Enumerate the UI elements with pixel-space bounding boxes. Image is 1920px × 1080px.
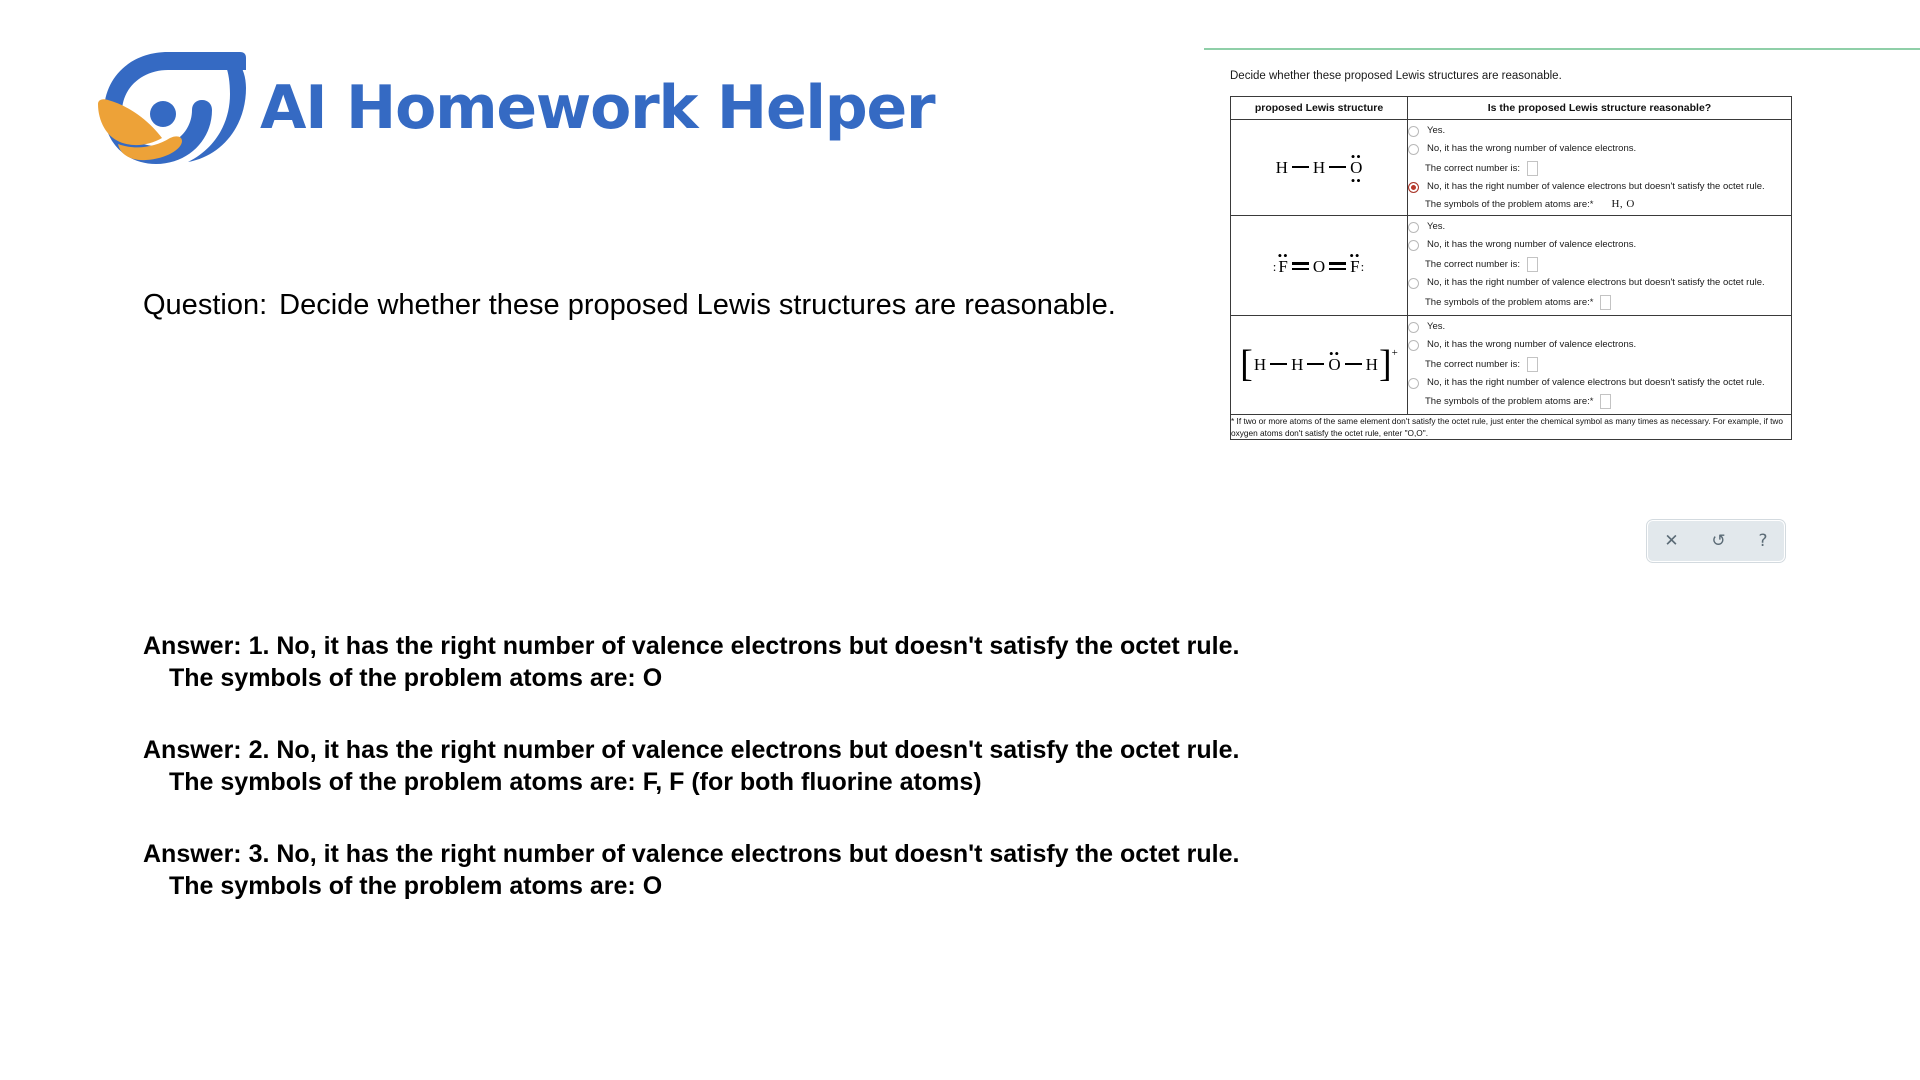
bond-double-icon [1292,262,1309,269]
bond-single-icon [1307,363,1324,365]
table-row: H H O•••• Yes. No, it has the wrong nu [1231,120,1792,216]
symbols-input-value[interactable]: H, O [1611,198,1634,210]
radio-unselected-icon[interactable] [1408,378,1419,389]
answer-2-line-2: The symbols of the problem atoms are: F,… [143,766,1543,798]
option-octet-rule[interactable]: No, it has the right number of valence e… [1408,277,1791,290]
option-yes[interactable]: Yes. [1408,221,1791,234]
radio-unselected-icon[interactable] [1408,126,1419,137]
answer-2-line-1: Answer: 2. No, it has the right number o… [143,734,1543,766]
symbols-field-row: The symbols of the problem atoms are:* H… [1425,198,1791,210]
answer-3-line-2: The symbols of the problem atoms are: O [143,870,1543,902]
answer-1-line-2: The symbols of the problem atoms are: O [143,662,1543,694]
radio-unselected-icon[interactable] [1408,222,1419,233]
question-line: Question:Decide whether these proposed L… [143,289,1116,322]
correct-number-input[interactable] [1527,357,1538,372]
bracket-right-icon: ] [1379,349,1392,379]
table-footnote-row: * If two or more atoms of the same eleme… [1231,415,1792,440]
option-wrong-valence-count[interactable]: No, it has the wrong number of valence e… [1408,339,1791,352]
lewis-structure-h-h-o: H H O•••• [1231,120,1408,216]
close-icon[interactable]: ✕ [1664,533,1678,550]
table-header-row: proposed Lewis structure Is the proposed… [1231,97,1792,120]
option-yes[interactable]: Yes. [1408,321,1791,334]
table-row: [ H H O•• H ] + [1231,315,1792,414]
radio-unselected-icon[interactable] [1408,278,1419,289]
answer-3-line-1: Answer: 3. No, it has the right number o… [143,838,1543,870]
symbols-field-row: The symbols of the problem atoms are:* [1425,394,1791,409]
radio-unselected-icon[interactable] [1408,144,1419,155]
answer-block-1: Answer: 1. No, it has the right number o… [143,630,1543,694]
correct-number-field-row: The correct number is: [1425,357,1791,372]
embedded-screenshot-panel: Decide whether these proposed Lewis stru… [1204,48,1920,568]
bracket-left-icon: [ [1240,349,1253,379]
table-row: : F•• O F•• : Yes. [1231,216,1792,315]
correct-number-field-row: The correct number is: [1425,161,1791,176]
answer-1-line-1: Answer: 1. No, it has the right number o… [143,630,1543,662]
options-cell: Yes. No, it has the wrong number of vale… [1408,216,1792,315]
options-cell: Yes. No, it has the wrong number of vale… [1408,315,1792,414]
radio-selected-icon[interactable] [1408,182,1419,193]
radio-unselected-icon[interactable] [1408,322,1419,333]
option-yes[interactable]: Yes. [1408,125,1791,138]
help-icon[interactable]: ? [1759,533,1768,550]
symbols-input[interactable] [1600,295,1611,310]
option-octet-rule[interactable]: No, it has the right number of valence e… [1408,181,1791,194]
lewis-structures-table: proposed Lewis structure Is the proposed… [1230,96,1792,440]
refresh-icon[interactable]: ↺ [1711,533,1725,550]
correct-number-input[interactable] [1527,161,1538,176]
bond-single-icon [1345,363,1362,365]
floating-toolbar: ✕ ↺ ? [1647,520,1785,562]
correct-number-field-row: The correct number is: [1425,257,1791,272]
brand-title: AI Homework Helper [260,78,934,138]
symbols-input[interactable] [1600,394,1611,409]
bond-single-icon [1270,363,1287,365]
lewis-structure-f-o-f: : F•• O F•• : [1231,216,1408,315]
option-octet-rule[interactable]: No, it has the right number of valence e… [1408,377,1791,390]
question-text: Decide whether these proposed Lewis stru… [279,289,1116,321]
answer-block-2: Answer: 2. No, it has the right number o… [143,734,1543,798]
lewis-structure-h-h-o-h-cation: [ H H O•• H ] + [1231,315,1408,414]
symbols-field-row: The symbols of the problem atoms are:* [1425,295,1791,310]
bond-single-icon [1329,166,1346,168]
bond-single-icon [1292,166,1309,168]
question-label: Question: [143,289,267,321]
header-proposed-structure: proposed Lewis structure [1231,97,1408,120]
option-wrong-valence-count[interactable]: No, it has the wrong number of valence e… [1408,143,1791,156]
radio-unselected-icon[interactable] [1408,340,1419,351]
radio-unselected-icon[interactable] [1408,240,1419,251]
answer-block-3: Answer: 3. No, it has the right number o… [143,838,1543,902]
options-cell: Yes. No, it has the wrong number of vale… [1408,120,1792,216]
brand-header: AI Homework Helper [96,52,934,164]
bond-double-icon [1329,262,1346,269]
option-wrong-valence-count[interactable]: No, it has the wrong number of valence e… [1408,239,1791,252]
panel-prompt: Decide whether these proposed Lewis stru… [1230,70,1562,82]
header-is-reasonable: Is the proposed Lewis structure reasonab… [1408,97,1792,120]
owl-bird-logo-icon [96,52,246,164]
answers-section: Answer: 1. No, it has the right number o… [143,630,1543,942]
footnote-text: * If two or more atoms of the same eleme… [1231,415,1792,440]
charge-plus-icon: + [1392,347,1398,359]
panel-top-divider [1204,48,1920,50]
correct-number-input[interactable] [1527,257,1538,272]
